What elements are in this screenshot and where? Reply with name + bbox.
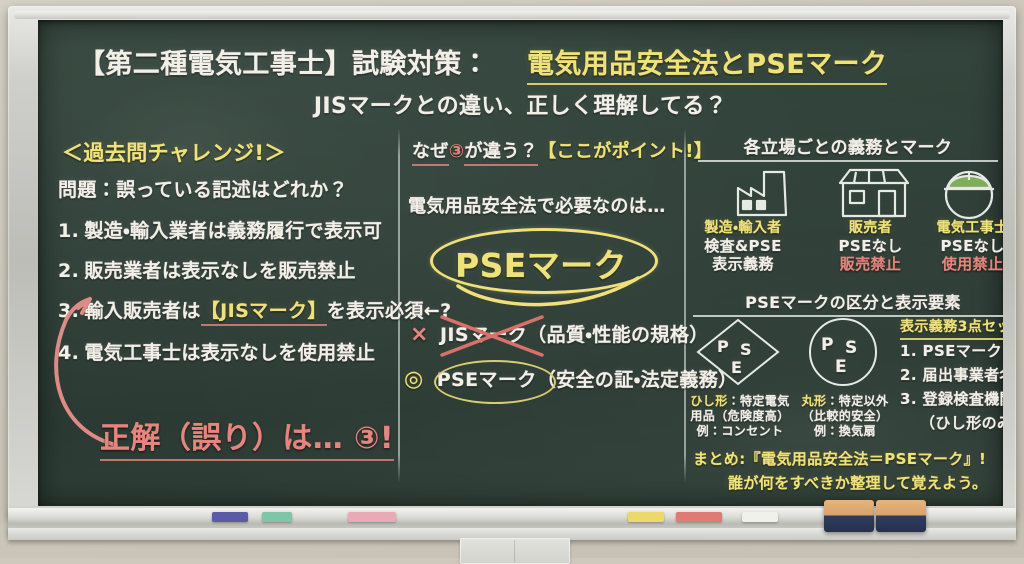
compare-jis-detail: （品質・性能の規格）	[527, 324, 708, 346]
circle-mark-label: 丸形	[802, 394, 827, 408]
diamond-mark-desc1: ：特定電気	[728, 394, 790, 408]
cross-icon: ×	[410, 322, 429, 347]
choice-3-pre: 輸入販売者は	[84, 300, 200, 322]
diamond-mark-desc: ひし形：特定電気 用品（危険度高） 例：コンセント	[686, 390, 794, 438]
circle-pse-letter-e: E	[835, 357, 847, 377]
left-heading: ＜過去問チャレンジ!＞	[62, 137, 286, 167]
left-choice-2: 2. 販売業者は表示なしを販売禁止	[58, 256, 356, 283]
circle-pse-letter-p: P	[821, 335, 834, 355]
middle-heading-a: なぜ	[412, 141, 449, 166]
middle-lead: 電気用品安全法で必要なのは…	[408, 192, 666, 218]
checklist-item-2: 2. 届出事業者名	[900, 364, 1003, 385]
role-block-seller: 販売者 PSEなし 販売禁止	[818, 220, 923, 274]
role-0-name: 製造・輸入者	[693, 220, 793, 237]
circle-mark-desc3: 例：換気扇	[795, 424, 895, 439]
diamond-mark-desc2: 用品（危険度高）	[686, 409, 794, 424]
yellow-chalk[interactable]	[628, 512, 664, 522]
blackboard-surface: 【第二種電気工事士】試験対策： 電気用品安全法とPSEマーク JISマークとの違…	[38, 20, 1003, 506]
chalk-tray-notch	[460, 538, 570, 564]
circle-mark-desc1: ：特定以外	[826, 394, 888, 408]
right-section2-heading: PSEマークの区分と表示要素	[693, 289, 1003, 317]
left-question: 問題：誤っている記述はどれか？	[58, 175, 348, 202]
title-line1-highlight: 電気用品安全法とPSEマーク	[527, 42, 887, 85]
choice-1-text: 製造・輸入業者は義務履行で表示可	[84, 220, 382, 242]
role-1-line1: PSEなし	[818, 237, 923, 255]
role-0-line1: 検査&PSE	[693, 237, 793, 255]
choice-4-text: 電気工事士は表示なしを使用禁止	[84, 342, 375, 364]
helmet-icon	[944, 172, 994, 218]
left-answer: 正解（誤り）は… ③!	[100, 413, 394, 461]
choice-2-text: 販売業者は表示なしを販売禁止	[84, 260, 356, 282]
choice-4-num: 4.	[58, 342, 79, 364]
summary-line1: まとめ:『電気用品安全法＝PSEマーク』!	[693, 448, 986, 469]
role-2-name: 電気工事士	[920, 220, 1003, 237]
diamond-mark-desc3: 例：コンセント	[686, 424, 794, 439]
compare-jis-label: JISマーク	[440, 324, 527, 346]
circle-mark-desc2: （比較的安全）	[795, 409, 895, 424]
title-line2: JISマークとの違い、正しく理解してる？	[38, 88, 1003, 120]
diamond-mark-label: ひし形	[690, 394, 727, 408]
choice-2-num: 2.	[58, 260, 79, 282]
white-chalk[interactable]	[742, 512, 778, 522]
choice-1-num: 1.	[58, 220, 79, 242]
role-block-electrician: 電気工事士 PSEなし 使用禁止	[920, 220, 1003, 274]
blue-chalk[interactable]	[212, 512, 248, 522]
middle-heading-b: 【ここがポイント!】	[538, 141, 712, 162]
left-choice-1: 1. 製造・輸入業者は義務履行で表示可	[58, 216, 382, 243]
role-0-line2: 表示義務	[693, 255, 793, 273]
checklist-item-1: 1. PSEマーク	[900, 340, 1002, 361]
choice-3-highlight: 【JISマーク】	[201, 300, 327, 326]
role-1-line2: 販売禁止	[818, 255, 923, 273]
middle-heading-a2: が違う？	[464, 141, 538, 166]
blackboard-frame: 【第二種電気工事士】試験対策： 電気用品安全法とPSEマーク JISマークとの違…	[8, 6, 1016, 516]
title-line1-part1: 【第二種電気工事士】試験対策：	[78, 42, 489, 81]
diamond-pse-letter-e: E	[731, 358, 742, 377]
role-1-name: 販売者	[818, 220, 923, 237]
middle-emphasis: PSEマーク	[430, 239, 652, 287]
checklist-heading: 表示義務3点セット	[900, 316, 1003, 340]
role-2-line1: PSEなし	[920, 237, 1003, 255]
circle-mark-desc: 丸形：特定以外 （比較的安全） 例：換気扇	[795, 390, 895, 438]
factory-icon	[738, 172, 786, 215]
role-2-line2: 使用禁止	[920, 255, 1003, 273]
pse-row-circle	[434, 360, 556, 404]
eraser-left[interactable]	[824, 500, 874, 532]
checklist-item-3-note: （ひし形のみ）	[920, 412, 1003, 433]
pink-chalk[interactable]	[348, 512, 396, 522]
summary-line2: 誰が何をすべきか整理して覚えよう。	[728, 472, 987, 493]
role-block-manufacturer: 製造・輸入者 検査&PSE 表示義務	[693, 220, 793, 274]
middle-heading: なぜ③が違う？【ここがポイント!】	[412, 137, 712, 163]
left-choice-3: 3. 輸入販売者は【JISマーク】を表示必須←?	[58, 296, 452, 323]
right-section1-heading: 各立場ごとの義務とマーク	[698, 133, 998, 162]
shop-icon	[840, 170, 908, 216]
circle-pse-letter-s: S	[845, 338, 858, 358]
choice-3-num: 3.	[58, 300, 79, 322]
checklist-item-3: 3. 登録検査機関名	[900, 388, 1003, 409]
red-chalk[interactable]	[676, 512, 722, 522]
diamond-pse-letter-p: P	[717, 337, 729, 356]
compare-row-jis: × JISマーク（品質・性能の規格）	[410, 320, 709, 347]
classroom-wall: 【第二種電気工事士】試験対策： 電気用品安全法とPSEマーク JISマークとの違…	[0, 0, 1024, 558]
diamond-pse-letter-s: S	[740, 340, 752, 359]
green-chalk[interactable]	[262, 512, 292, 522]
divider-right	[684, 128, 686, 483]
compare-pse-detail: （安全の証・法定義務）	[537, 369, 738, 391]
double-circle-icon: ◎	[404, 367, 424, 392]
left-choice-4: 4. 電気工事士は表示なしを使用禁止	[58, 338, 375, 365]
choice-3-post: を表示必須←?	[327, 300, 452, 322]
middle-heading-num: ③	[449, 141, 465, 162]
eraser-right[interactable]	[876, 500, 926, 532]
